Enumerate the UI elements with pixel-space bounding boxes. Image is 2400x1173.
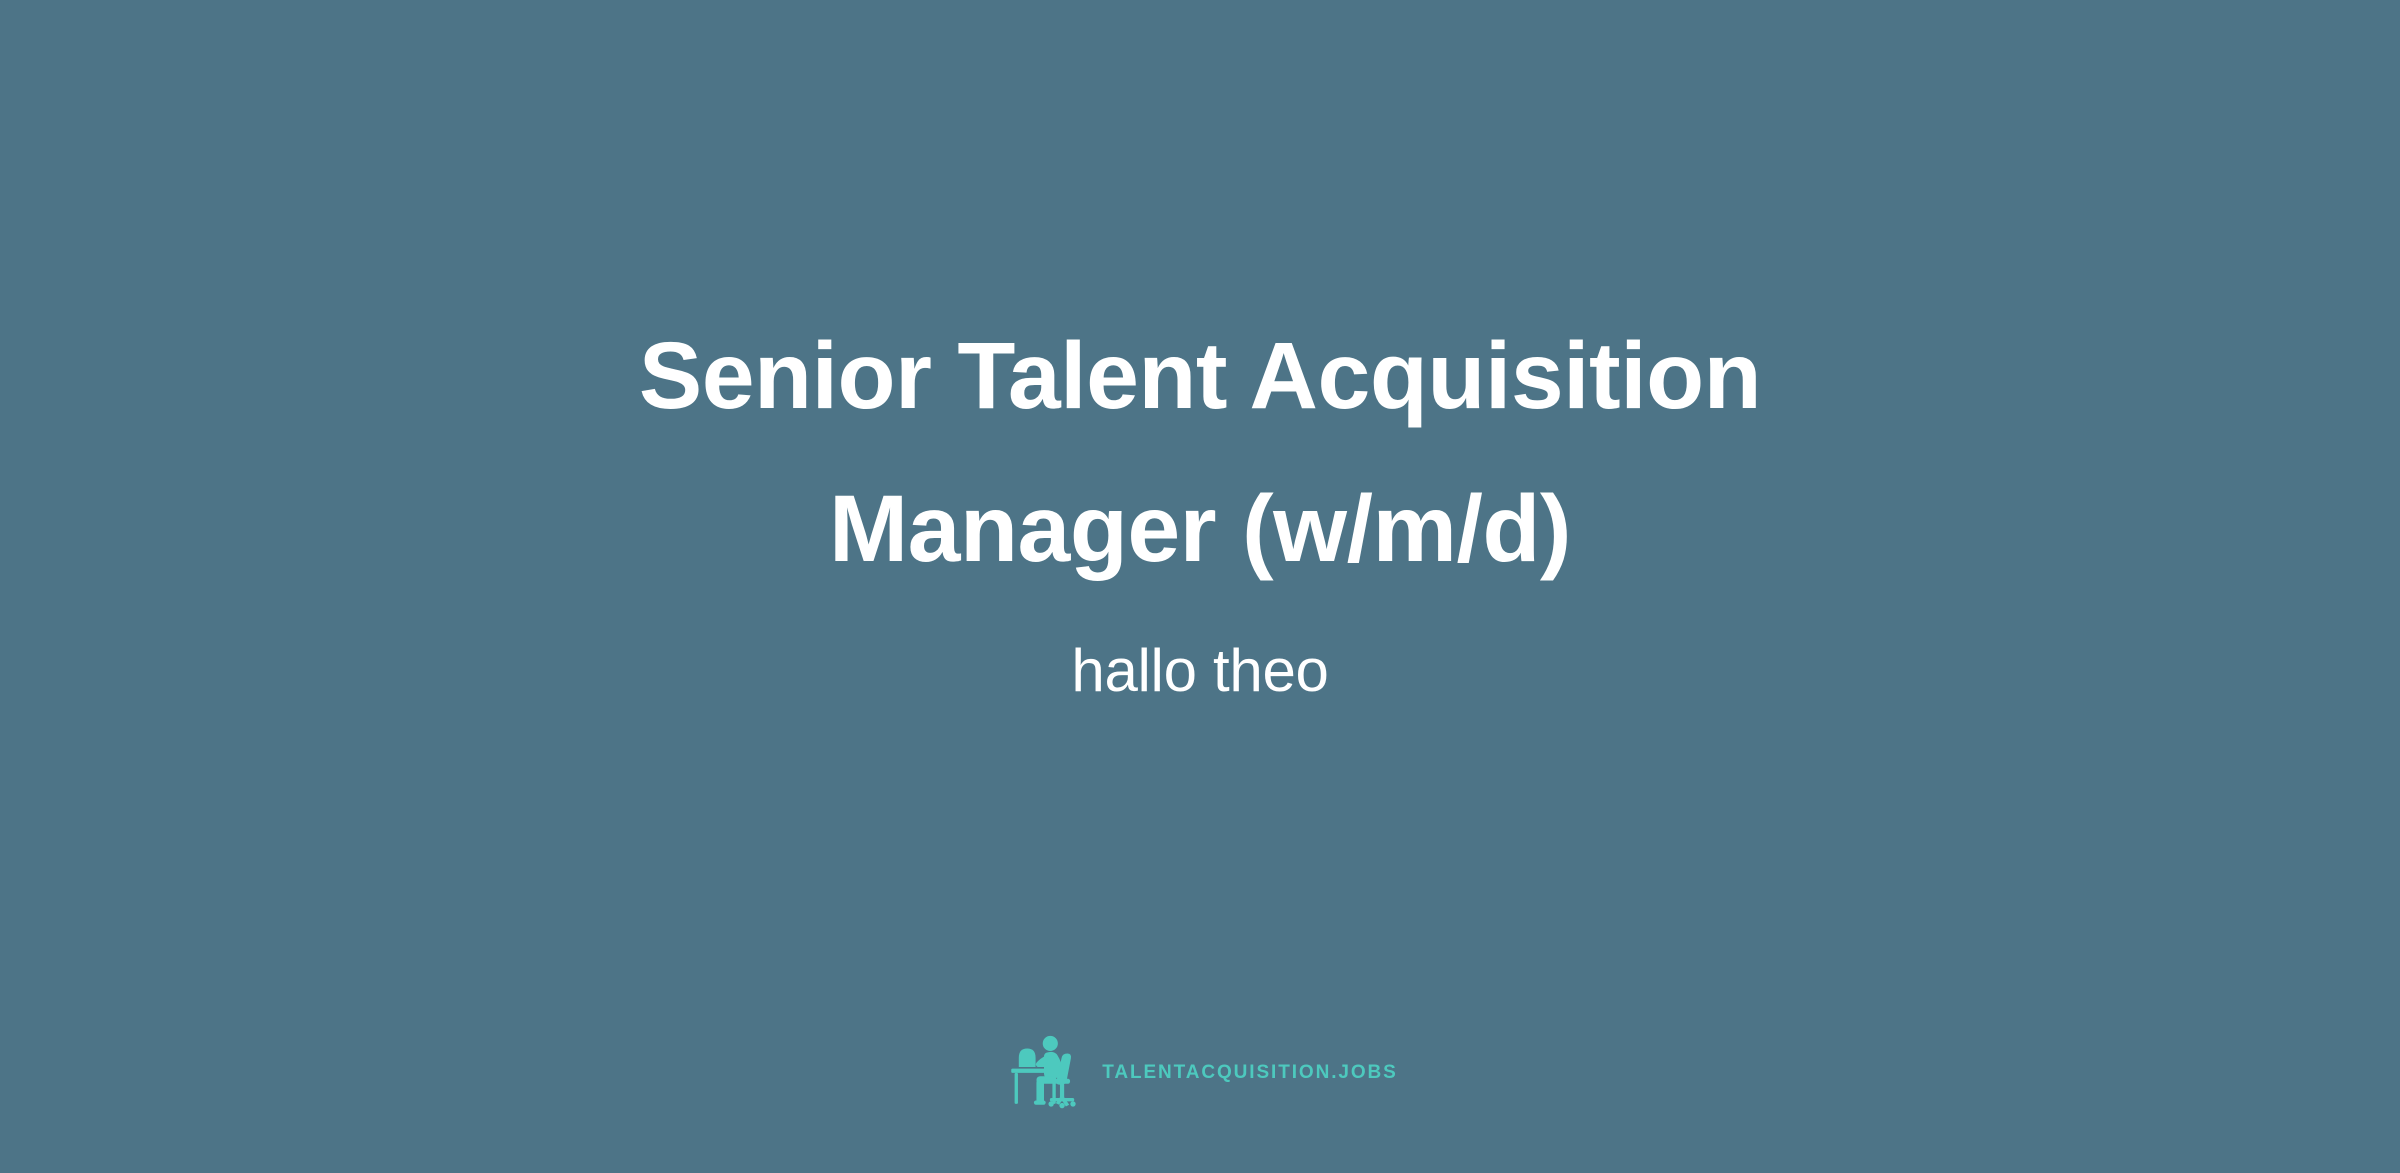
page-subtitle: hallo theo <box>1071 626 1328 716</box>
job-posting-card: Senior Talent Acquisition Manager (w/m/d… <box>0 0 2400 1173</box>
brand-wordmark: TALENTACQUISITION.JOBS <box>1102 1063 1398 1082</box>
headline-block: Senior Talent Acquisition Manager (w/m/d… <box>0 300 2400 716</box>
person-at-desk-icon <box>1002 1030 1086 1114</box>
page-title: Senior Talent Acquisition Manager (w/m/d… <box>480 300 1920 606</box>
brand-footer: TALENTACQUISITION.JOBS <box>0 1030 2400 1114</box>
